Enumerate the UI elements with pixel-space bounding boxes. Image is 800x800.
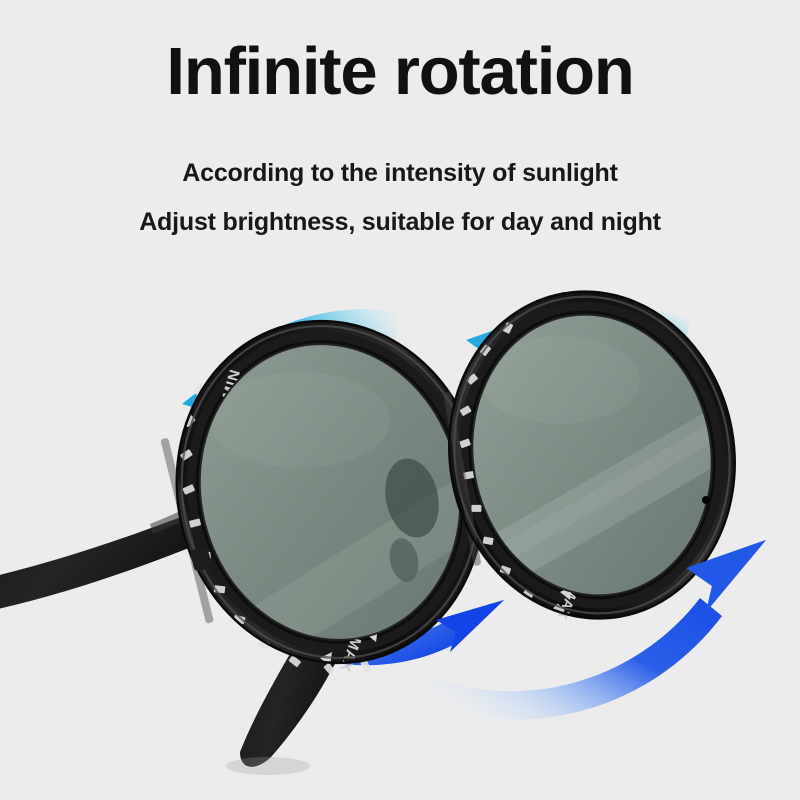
rotation-arrows-blue-over [0,0,800,800]
bottom-right-arrow-head-overlay [686,540,766,612]
subtitle-line-1: According to the intensity of sunlight [0,159,800,188]
promo-image-canvas: MIN MAX [0,0,800,800]
page-title: Infinite rotation [0,34,800,109]
bottom-left-arrow-head-overlay [436,600,504,652]
subtitle-line-2: Adjust brightness, suitable for day and … [0,208,800,237]
product-artwork: MIN MAX [0,0,800,800]
